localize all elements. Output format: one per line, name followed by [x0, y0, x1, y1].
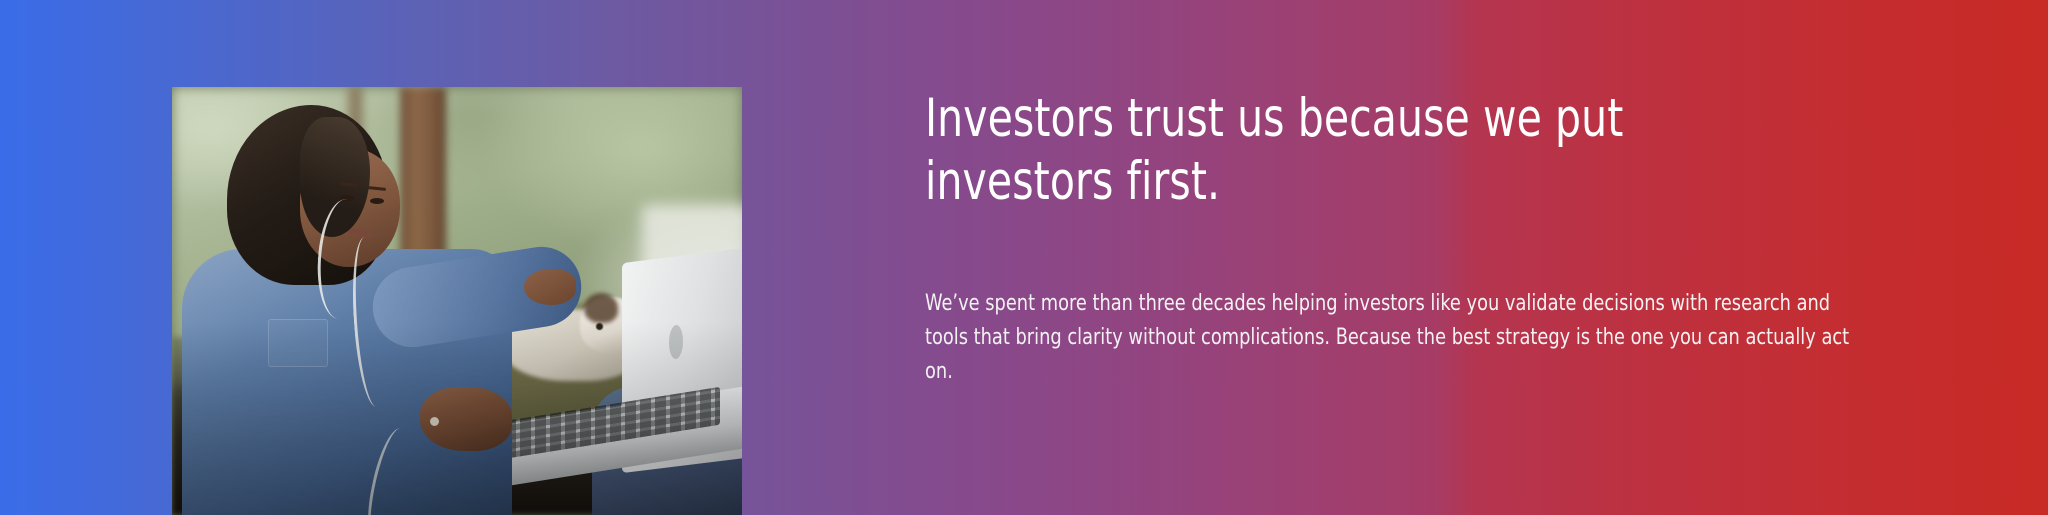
hero-headline: Investors trust us because we put invest… — [925, 88, 1712, 213]
photo-vignette — [172, 87, 742, 515]
hero-photo — [172, 87, 742, 515]
hero-body-text: We’ve spent more than three decades help… — [925, 286, 1858, 388]
hero-banner: Investors trust us because we put invest… — [0, 0, 2048, 515]
hero-copy: Investors trust us because we put invest… — [925, 88, 1840, 213]
photo-canvas — [172, 87, 742, 515]
